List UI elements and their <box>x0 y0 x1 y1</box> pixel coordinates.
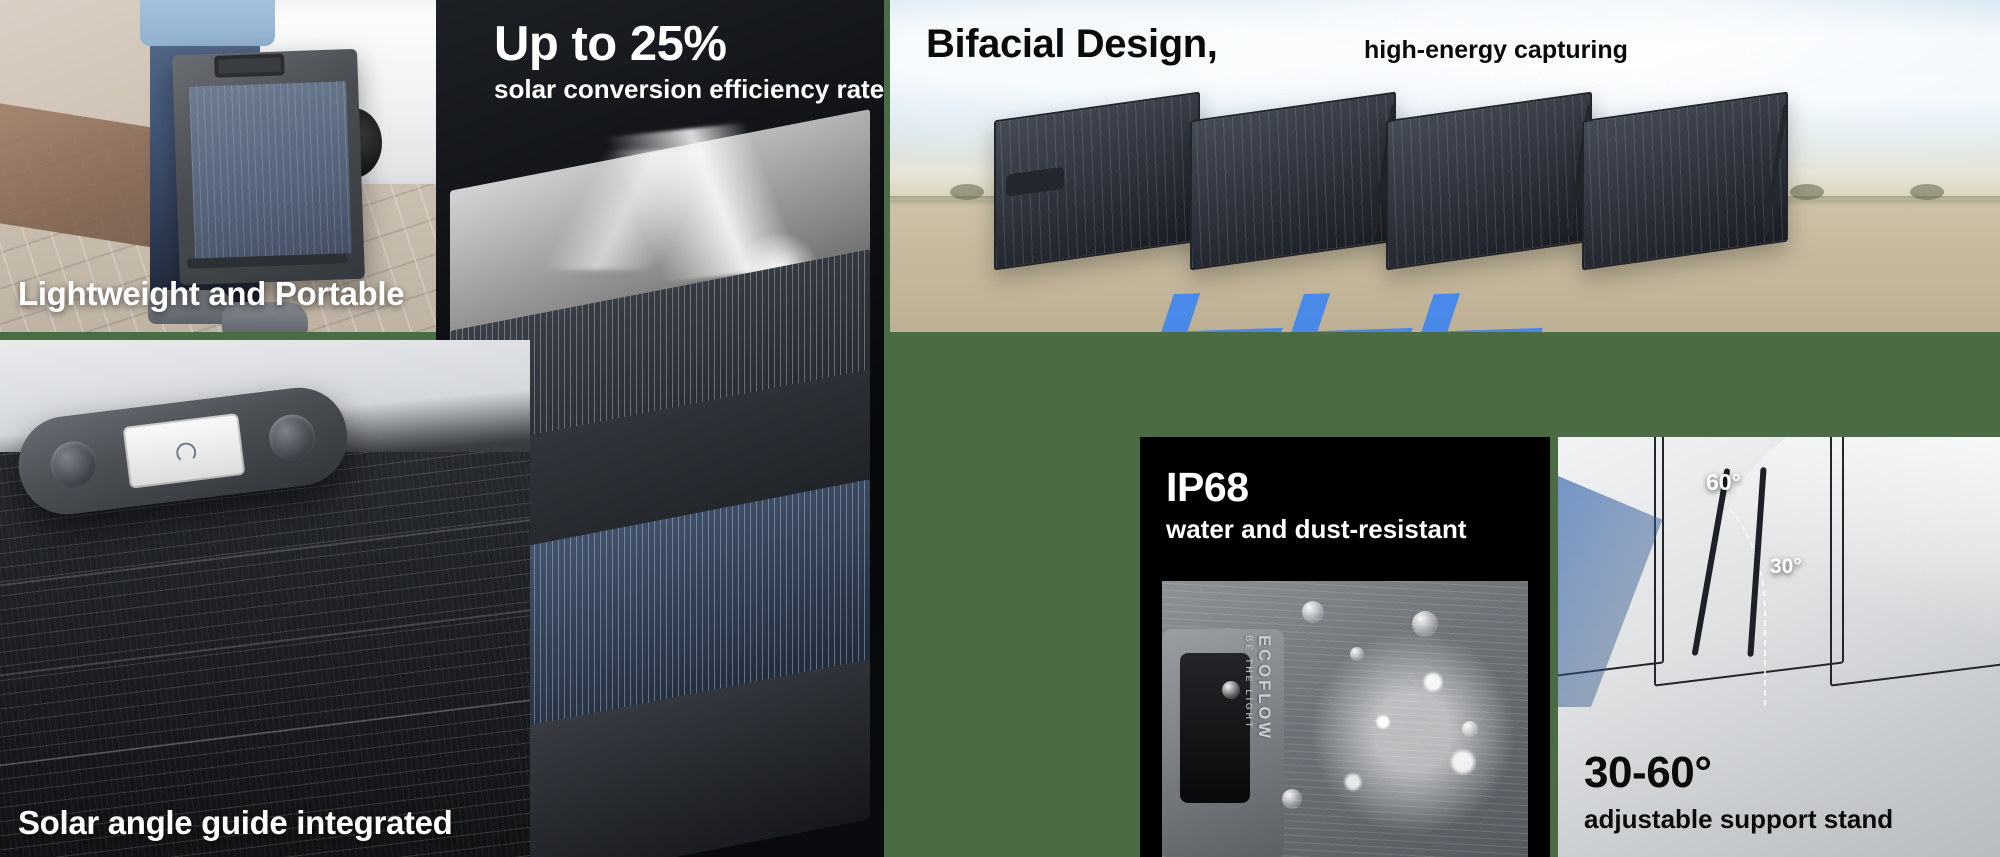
solar-array-four-section <box>994 106 1854 282</box>
headline-ip68: IP68 <box>1166 467 1249 508</box>
stand-panel-section <box>1830 437 2000 687</box>
panel-ip68[interactable]: IP68 water and dust-resistant ECOFLOW BE… <box>1140 437 1550 857</box>
output-port <box>1180 653 1250 803</box>
brand-name: ECOFLOW <box>1255 635 1274 741</box>
panel-solar-angle-guide[interactable]: Solar angle guide integrated <box>0 340 530 857</box>
guide-knob-right <box>267 412 318 463</box>
desert-shrub <box>950 184 984 200</box>
subhead-solar-conversion-efficiency-rate: solar conversion efficiency rate <box>494 75 884 105</box>
panel-bifacial-design[interactable]: Bifacial Design, high-energy capturing <box>890 0 2000 332</box>
energy-flow-arrow <box>1283 290 1425 332</box>
array-section <box>1190 92 1396 271</box>
subhead-adjustable-support-stand: adjustable support stand <box>1584 805 1893 835</box>
carry-handle <box>214 53 285 77</box>
water-droplet <box>1282 789 1302 809</box>
ecoflow-brand-mark: ECOFLOW BE THE LIGHT <box>1244 635 1274 741</box>
water-droplet <box>1350 647 1364 661</box>
caption-solar-angle-guide-integrated: Solar angle guide integrated <box>18 806 453 839</box>
angle-dial-window <box>123 413 246 489</box>
array-handle <box>1006 167 1064 197</box>
ip68-photo: ECOFLOW BE THE LIGHT <box>1162 581 1528 857</box>
brand-tagline: BE THE LIGHT <box>1244 635 1254 741</box>
kickstand-leg <box>1763 105 1788 236</box>
guide-knob-left <box>48 439 99 490</box>
angle-label-60: 60° <box>1706 469 1741 496</box>
person-shirt <box>140 0 275 46</box>
subhead-water-and-dust-resistant: water and dust-resistant <box>1166 515 1467 545</box>
array-section <box>1582 92 1788 271</box>
energy-flow-arrow <box>1413 290 1555 332</box>
folded-solar-panel <box>172 49 365 285</box>
array-section <box>994 92 1200 271</box>
feature-grid: Lightweight and Portable Up to 25% solar… <box>0 0 2000 857</box>
energy-flow-arrow <box>1153 290 1295 332</box>
desert-shrub <box>1910 184 1944 200</box>
solar-cell-face <box>189 81 352 258</box>
water-splash <box>1288 607 1528 857</box>
water-droplet <box>1412 611 1438 637</box>
water-droplet <box>1222 681 1240 699</box>
subhead-high-energy-capturing: high-energy capturing <box>1364 36 1628 65</box>
panel-adjustable-support-stand[interactable]: 60° 30° 30-60° adjustable support stand <box>1558 437 2000 857</box>
headline-bifacial-design: Bifacial Design, <box>926 24 1217 64</box>
array-section <box>1386 92 1592 271</box>
headline-30-60-degrees: 30-60° <box>1584 751 1712 795</box>
angle-label-30: 30° <box>1770 555 1802 579</box>
headline-up-to-25-percent: Up to 25% <box>494 20 726 69</box>
water-droplet <box>1302 601 1324 623</box>
caption-lightweight-and-portable: Lightweight and Portable <box>18 277 404 310</box>
water-droplet <box>1462 721 1478 737</box>
